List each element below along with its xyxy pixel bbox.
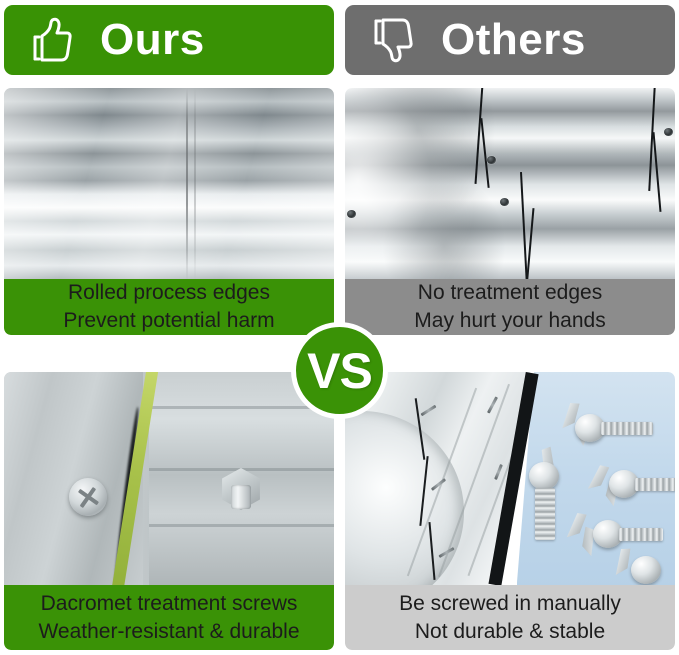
header-banner-ours: Ours xyxy=(4,5,334,75)
caption-line-2: Not durable & stable xyxy=(415,618,605,646)
photo-dacromet-screws xyxy=(4,372,334,587)
caption-line-2: Prevent potential harm xyxy=(63,307,274,335)
vs-badge: VS xyxy=(291,322,388,419)
caption-line-1: Rolled process edges xyxy=(68,279,270,307)
vs-label: VS xyxy=(307,346,372,396)
metal-rolled-surface xyxy=(4,88,334,281)
caption-line-2: Weather-resistant & durable xyxy=(38,618,299,646)
caption-others-screws: Be screwed in manually Not durable & sta… xyxy=(345,585,675,650)
caption-line-2: May hurt your hands xyxy=(414,307,605,335)
caption-line-1: Dacromet treatment screws xyxy=(41,590,298,618)
wing-bolt-scene xyxy=(345,372,675,587)
photo-rolled-edge xyxy=(4,88,334,281)
header-title-others: Others xyxy=(441,18,586,62)
comparison-infographic: Ours Others Rolled process edges Prevent… xyxy=(0,0,679,655)
thumbs-down-icon xyxy=(367,16,413,64)
panel-ours-screws: Dacromet treatment screws Weather-resist… xyxy=(4,372,334,650)
metal-ring-surface xyxy=(345,88,675,281)
screw-scene xyxy=(4,372,334,587)
thumbs-up-icon xyxy=(26,16,72,64)
panel-ours-edges: Rolled process edges Prevent potential h… xyxy=(4,88,334,335)
caption-line-1: No treatment edges xyxy=(418,279,602,307)
caption-others-edges: No treatment edges May hurt your hands xyxy=(345,279,675,335)
caption-ours-edges: Rolled process edges Prevent potential h… xyxy=(4,279,334,335)
caption-line-1: Be screwed in manually xyxy=(399,590,621,618)
phillips-screw-head xyxy=(69,478,107,516)
photo-manual-screws xyxy=(345,372,675,587)
photo-raw-edge xyxy=(345,88,675,281)
caption-ours-screws: Dacromet treatment screws Weather-resist… xyxy=(4,585,334,650)
panel-others-edges: No treatment edges May hurt your hands xyxy=(345,88,675,335)
header-title-ours: Ours xyxy=(100,18,205,62)
panel-others-screws: Be screwed in manually Not durable & sta… xyxy=(345,372,675,650)
header-banner-others: Others xyxy=(345,5,675,75)
